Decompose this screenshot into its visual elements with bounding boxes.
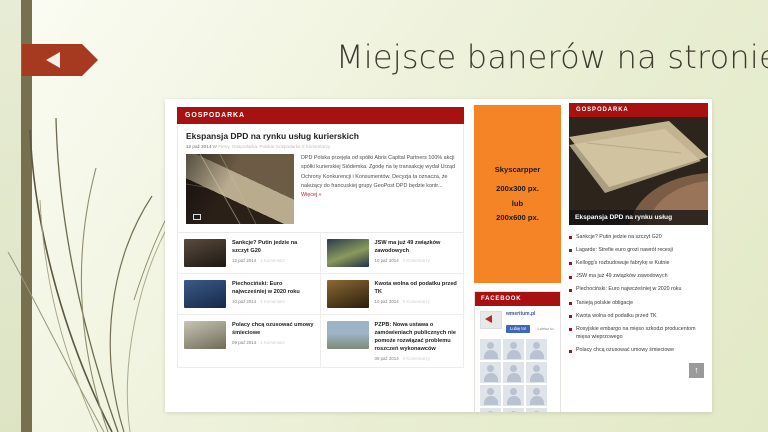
avatar[interactable]	[526, 362, 547, 383]
list-item[interactable]: Rosyjskie embargo na mięso szkodzi produ…	[569, 322, 708, 343]
article-thumbnail[interactable]	[327, 239, 369, 267]
article-comments: 1 Komentarz	[260, 340, 285, 345]
lead-article[interactable]: Ekspansja DPD na rynku usług kurierskich…	[177, 124, 464, 233]
bullet-icon	[569, 262, 572, 265]
lead-meta-prefix: W	[213, 144, 217, 149]
bullet-icon	[569, 328, 572, 331]
article-comments: 0 Komentarzy	[403, 299, 430, 304]
list-item[interactable]: Polacy chcą ozusować umowy śmieciowe	[569, 344, 708, 357]
avatar[interactable]	[480, 362, 501, 383]
lead-categories[interactable]: Firmy, Gospodarka, Polskie Gospodarka	[218, 144, 300, 149]
bullet-icon	[569, 289, 572, 292]
list-item[interactable]: Lagarde: Strefie euro grozi nawrót reces…	[569, 243, 708, 256]
article-row: Polacy chcą ozusować umowy śmieciowe 09 …	[177, 315, 464, 368]
lead-article-meta: 12 paź 2014 W Firmy, Gospodarka, Polskie…	[186, 144, 455, 149]
main-column: GOSPODARKA Ekspansja DPD na rynku usług …	[165, 99, 470, 412]
article-thumbnail[interactable]	[327, 321, 369, 349]
list-item-label: Lagarde: Strefie euro grozi nawrót reces…	[576, 246, 673, 254]
article-title[interactable]: Kwota wolna od podatku przed TK	[375, 280, 458, 296]
bullet-icon	[569, 315, 572, 318]
list-item-label: Rosyjskie embargo na mięso szkodzi produ…	[576, 325, 708, 341]
article-date: 10 paź 20141 Komentarz	[232, 299, 314, 304]
lead-date: 12 paź 2014	[186, 144, 211, 149]
section-header-gospodarka: GOSPODARKA	[177, 107, 464, 124]
article-date: 10 paź 20140 Komentarzy	[375, 299, 458, 304]
ribbon-tip	[82, 44, 98, 76]
bullet-icon	[569, 302, 572, 305]
scroll-to-top-button[interactable]: ↑	[689, 363, 704, 378]
left-triangle-icon	[46, 52, 60, 68]
list-item[interactable]: JSW ma już 49 związków zawodowych	[569, 270, 708, 283]
bullet-icon	[569, 236, 572, 239]
article-title[interactable]: JSW ma już 49 związków zawodowych	[375, 239, 458, 255]
slide: Miejsce banerów na stronie GOSPODARKA Ek…	[0, 0, 768, 432]
ad-label-size1: 200x300 px.	[496, 182, 539, 196]
facebook-widget-header: FACEBOOK	[475, 292, 560, 306]
list-item-label: Kwota wolna od podatku przed TK	[576, 312, 657, 320]
avatar[interactable]	[503, 385, 524, 406]
avatar[interactable]	[526, 385, 547, 406]
facebook-avatar-grid	[480, 339, 555, 412]
ad-label-title: Skyscarpper	[495, 163, 541, 177]
lead-article-text: DPD Polska przejęła od spółki Abris Capi…	[301, 154, 455, 224]
article-date: 12 paź 20141 Komentarz	[232, 258, 314, 263]
bullet-icon	[569, 249, 572, 252]
article-cell[interactable]: Piechociński: Euro najwcześniej w 2020 r…	[178, 274, 321, 314]
bullet-icon	[569, 350, 572, 353]
avatar[interactable]	[480, 385, 501, 406]
lead-article-body: DPD Polska przejęła od spółki Abris Capi…	[186, 154, 455, 224]
article-title[interactable]: PZPB: Nowa ustawa o zamówieniach publicz…	[375, 321, 458, 353]
article-thumbnail[interactable]	[327, 280, 369, 308]
facebook-widget-body: wmeritum.pl Lubię to! Lubisz to.	[475, 306, 560, 412]
avatar[interactable]	[526, 408, 547, 412]
article-cell[interactable]: Polacy chcą ozusować umowy śmieciowe 09 …	[178, 315, 321, 367]
side-article-list: Sankcje? Putin jedzie na szczyt G20 Laga…	[569, 230, 708, 357]
article-thumbnail[interactable]	[184, 239, 226, 267]
facebook-like-button[interactable]: Lubię to!	[506, 325, 530, 333]
article-date: 09 paź 20140 Komentarzy	[375, 356, 458, 361]
avatar[interactable]	[480, 339, 501, 360]
list-item-label: Sankcje? Putin jedzie na szczyt G20	[576, 233, 662, 241]
article-comments: 0 Komentarzy	[403, 356, 430, 361]
lead-article-title[interactable]: Ekspansja DPD na rynku usług kurierskich	[186, 131, 455, 141]
website-screenshot: GOSPODARKA Ekspansja DPD na rynku usług …	[165, 99, 712, 412]
side-hero-photo	[569, 117, 708, 225]
article-comments: 0 Komentarzy	[403, 258, 430, 263]
article-comments: 1 Komentarz	[260, 258, 285, 263]
list-item[interactable]: Kwota wolna od podatku przed TK	[569, 309, 708, 322]
ribbon-arrow[interactable]	[22, 44, 100, 76]
list-item-label: Polacy chcą ozusować umowy śmieciowe	[576, 346, 674, 354]
article-date: 09 paź 20141 Komentarz	[232, 340, 314, 345]
article-thumbnail[interactable]	[184, 280, 226, 308]
avatar[interactable]	[503, 408, 524, 412]
ad-label-or: lub	[512, 197, 523, 211]
side-section-header: GOSPODARKA	[569, 103, 708, 117]
article-date: 10 paź 20140 Komentarzy	[375, 258, 458, 263]
list-item[interactable]: Sankcje? Putin jedzie na szczyt G20	[569, 230, 708, 243]
list-item-label: Piechociński: Euro najwcześniej w 2020 r…	[576, 285, 681, 293]
bullet-icon	[569, 276, 572, 279]
list-item[interactable]: Kellogg's rozbudowuje fabrykę w Kutnie	[569, 256, 708, 269]
list-item[interactable]: Piechociński: Euro najwcześniej w 2020 r…	[569, 283, 708, 296]
facebook-like-sub: Lubisz to.	[538, 326, 555, 331]
list-item-label: Kellogg's rozbudowuje fabrykę w Kutnie	[576, 259, 669, 267]
wmeritum-logo-icon	[480, 311, 502, 329]
map-photo-lines	[186, 154, 294, 224]
facebook-page-row: wmeritum.pl Lubię to! Lubisz to.	[480, 311, 555, 335]
ad-column: Skyscarpper 200x300 px. lub 200x600 px. …	[470, 99, 565, 412]
article-cell[interactable]: Sankcje? Putin jedzie na szczyt G20 12 p…	[178, 233, 321, 273]
article-thumbnail[interactable]	[184, 321, 226, 349]
page-title: Miejsce banerów na stronie	[336, 38, 736, 76]
article-cell[interactable]: Kwota wolna od podatku przed TK 10 paź 2…	[321, 274, 464, 314]
lead-comments[interactable]: 0 Komentarzy	[302, 144, 330, 149]
list-item-label: Tanieją polskie obligacje	[576, 299, 633, 307]
photo-icon	[190, 211, 202, 220]
facebook-page-name[interactable]: wmeritum.pl	[506, 311, 555, 317]
ad-label-size2: 200x600 px.	[496, 211, 539, 225]
article-cell[interactable]: JSW ma już 49 związków zawodowych 10 paź…	[321, 233, 464, 273]
article-title[interactable]: Polacy chcą ozusować umowy śmieciowe	[232, 321, 314, 337]
article-row: Sankcje? Putin jedzie na szczyt G20 12 p…	[177, 233, 464, 274]
lead-thumbnail[interactable]	[186, 154, 294, 224]
side-hero-image[interactable]: Ekspansja DPD na rynku usług	[569, 117, 708, 225]
article-title[interactable]: Sankcje? Putin jedzie na szczyt G20	[232, 239, 314, 255]
list-item-label: JSW ma już 49 związków zawodowych	[576, 272, 668, 280]
read-more-link[interactable]: Więcej »	[301, 192, 322, 198]
article-comments: 1 Komentarz	[260, 299, 285, 304]
list-item[interactable]: Tanieją polskie obligacje	[569, 296, 708, 309]
lead-text-body: DPD Polska przejęła od spółki Abris Capi…	[301, 155, 455, 189]
avatar[interactable]	[480, 408, 501, 412]
article-cell[interactable]: PZPB: Nowa ustawa o zamówieniach publicz…	[321, 315, 464, 367]
skyscraper-ad-placeholder[interactable]: Skyscarpper 200x300 px. lub 200x600 px.	[474, 105, 561, 283]
facebook-widget: FACEBOOK wmeritum.pl Lubię to! Lubisz to…	[474, 291, 561, 412]
avatar[interactable]	[503, 339, 524, 360]
article-row: Piechociński: Euro najwcześniej w 2020 r…	[177, 274, 464, 315]
article-title[interactable]: Piechociński: Euro najwcześniej w 2020 r…	[232, 280, 314, 296]
avatar[interactable]	[526, 339, 547, 360]
avatar[interactable]	[503, 362, 524, 383]
side-hero-caption: Ekspansja DPD na rynku usług	[569, 210, 708, 225]
